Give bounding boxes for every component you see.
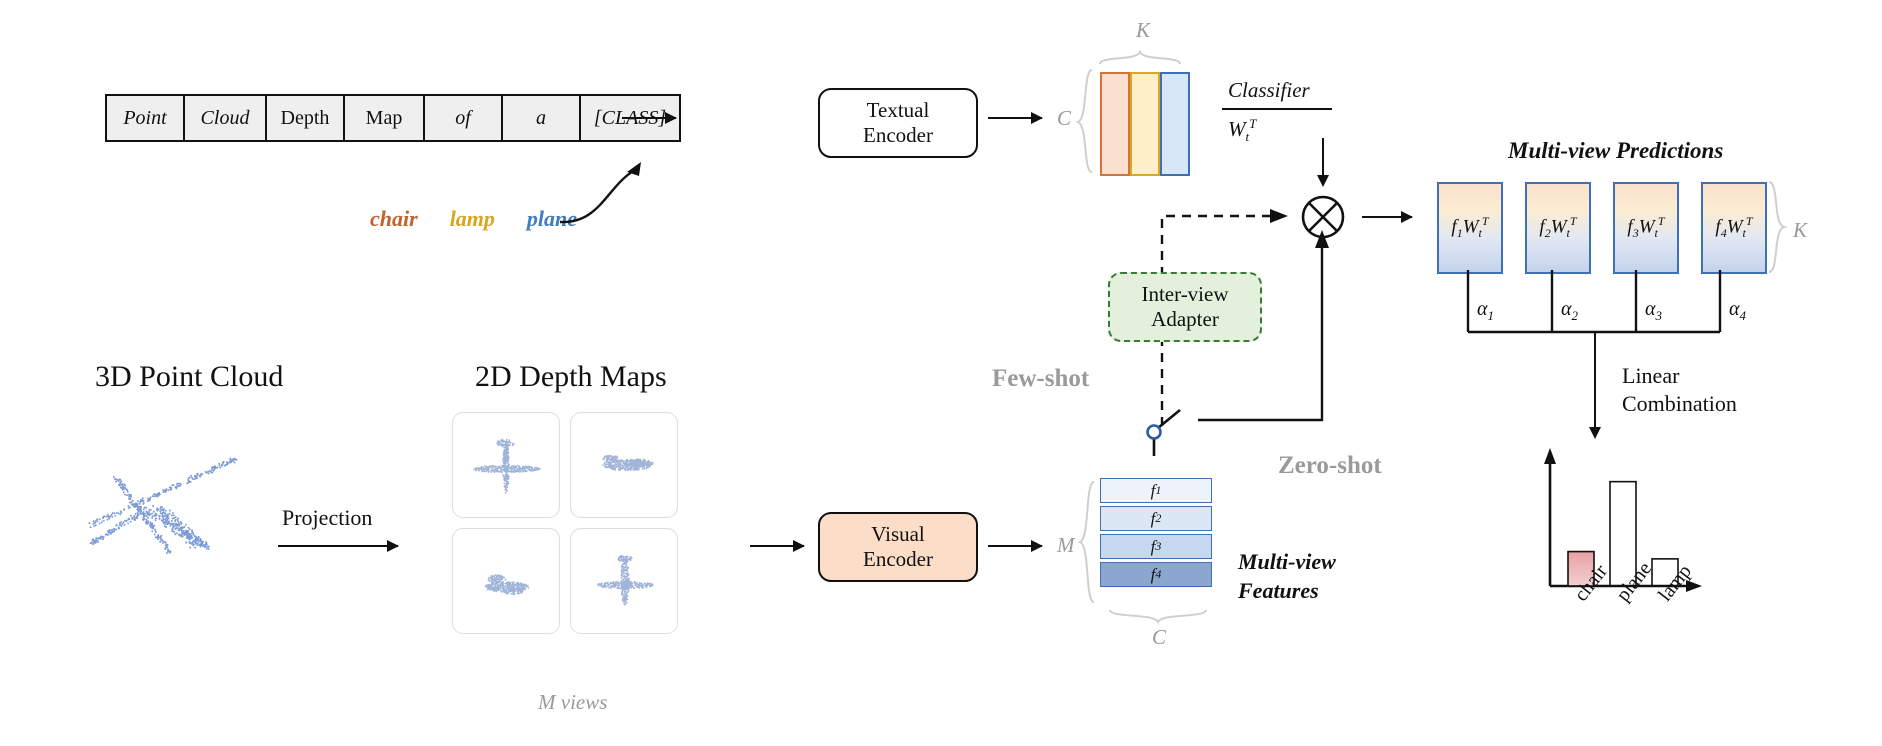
classifier-left-brace-icon	[1076, 68, 1094, 176]
arrow-prompt-to-textual-encoder	[622, 117, 676, 119]
class-curved-arrow-icon	[555, 150, 685, 230]
multi-view-prediction-boxes: f1WtTf2WtTf3WtTf4WtT	[1437, 182, 1767, 274]
features-caption-line1: Multi-view	[1238, 548, 1336, 577]
prompt-token-0[interactable]: Point	[107, 96, 185, 140]
feature-bar-2: f2	[1100, 506, 1212, 531]
depth-map-thumb-3	[452, 528, 560, 634]
depth-map-thumb-1	[452, 412, 560, 518]
arrow-depth-to-visual-encoder	[750, 545, 804, 547]
prompt-token-3[interactable]: Map	[345, 96, 425, 140]
few-shot-label: Few-shot	[992, 365, 1089, 393]
visual-encoder-line2: Encoder	[863, 547, 933, 572]
textual-encoder-module[interactable]: Textual Encoder	[818, 88, 978, 158]
linear-combination-label: Linear Combination	[1622, 362, 1737, 417]
prediction-box-4: f4WtT	[1701, 182, 1767, 274]
classifier-formula: WtT	[1228, 116, 1256, 145]
alpha-weight-4: α4	[1729, 298, 1746, 324]
classifier-title: Classifier	[1228, 78, 1310, 103]
class-word-chair: chair	[370, 206, 418, 232]
linear-combination-line1: Linear	[1622, 362, 1737, 390]
linear-combination-line2: Combination	[1622, 390, 1737, 418]
feature-bar-3: f3	[1100, 534, 1212, 559]
classifier-column-0	[1100, 72, 1130, 176]
arrow-classifier-to-multiply	[1322, 138, 1324, 176]
features-col-dim-label: C	[1152, 625, 1166, 650]
features-caption-line2: Features	[1238, 577, 1336, 606]
multi-view-predictions-title: Multi-view Predictions	[1508, 138, 1723, 164]
zero-shot-label: Zero-shot	[1278, 452, 1382, 480]
classifier-top-brace-icon	[1098, 50, 1182, 66]
depth-map-thumb-2	[570, 412, 678, 518]
prompt-token-table: PointCloudDepthMapofa[CLASS]	[105, 94, 681, 142]
alpha-weight-2: α2	[1561, 298, 1578, 324]
classifier-divider	[1222, 108, 1332, 110]
point-cloud-title: 3D Point Cloud	[95, 360, 283, 394]
alpha-weight-3: α3	[1645, 298, 1662, 324]
predictions-dim-label: K	[1793, 218, 1807, 243]
feature-bar-1: f1	[1100, 478, 1212, 503]
textual-encoder-line1: Textual	[867, 98, 930, 123]
arrow-projection	[278, 545, 398, 547]
prompt-token-1[interactable]: Cloud	[185, 96, 267, 140]
depth-map-grid	[452, 412, 676, 632]
features-bottom-brace-icon	[1108, 608, 1208, 624]
zero-shot-solid-path	[1196, 230, 1328, 422]
projection-label: Projection	[282, 505, 372, 531]
prompt-token-5[interactable]: a	[503, 96, 581, 140]
arrow-to-output-chart	[1594, 332, 1596, 428]
classifier-column-1	[1130, 72, 1160, 176]
alpha-weight-1: α1	[1477, 298, 1494, 324]
classifier-formula-sub: t	[1246, 129, 1250, 144]
arrow-visual-encoder-to-features	[988, 545, 1042, 547]
prediction-box-3: f3WtT	[1613, 182, 1679, 274]
classifier-matrix	[1100, 72, 1190, 172]
visual-encoder-module[interactable]: Visual Encoder	[818, 512, 978, 582]
class-word-lamp: lamp	[450, 206, 495, 232]
depth-map-thumb-4	[570, 528, 678, 634]
multi-view-features-caption: Multi-view Features	[1238, 548, 1336, 605]
classifier-formula-sup: T	[1249, 116, 1256, 131]
point-cloud-visual	[70, 440, 280, 580]
class-word-list: chairlampplane	[370, 206, 577, 232]
depth-maps-title: 2D Depth Maps	[475, 360, 667, 394]
classifier-row-dim-label: C	[1057, 106, 1071, 131]
textual-encoder-line2: Encoder	[863, 123, 933, 148]
prediction-box-2: f2WtT	[1525, 182, 1591, 274]
output-bar-chart: chairplanelamp	[1528, 438, 1728, 618]
branch-switch-icon[interactable]	[1142, 406, 1198, 456]
multi-view-feature-stack: f1f2f3f4	[1100, 478, 1212, 590]
feature-bar-4: f4	[1100, 562, 1212, 587]
prompt-token-4[interactable]: of	[425, 96, 503, 140]
classifier-formula-base: W	[1228, 117, 1246, 141]
classifier-col-dim-label: K	[1136, 18, 1150, 43]
visual-encoder-line1: Visual	[871, 522, 925, 547]
classifier-column-2	[1160, 72, 1190, 176]
features-row-dim-label: M	[1057, 533, 1075, 558]
predictions-right-brace-icon	[1767, 180, 1787, 274]
features-left-brace-icon	[1078, 480, 1096, 605]
depth-maps-caption: M views	[538, 690, 607, 715]
arrow-textual-encoder-to-classifier	[988, 117, 1042, 119]
arrow-multiply-to-predictions	[1362, 216, 1412, 218]
prompt-token-2[interactable]: Depth	[267, 96, 345, 140]
prediction-box-1: f1WtT	[1437, 182, 1503, 274]
